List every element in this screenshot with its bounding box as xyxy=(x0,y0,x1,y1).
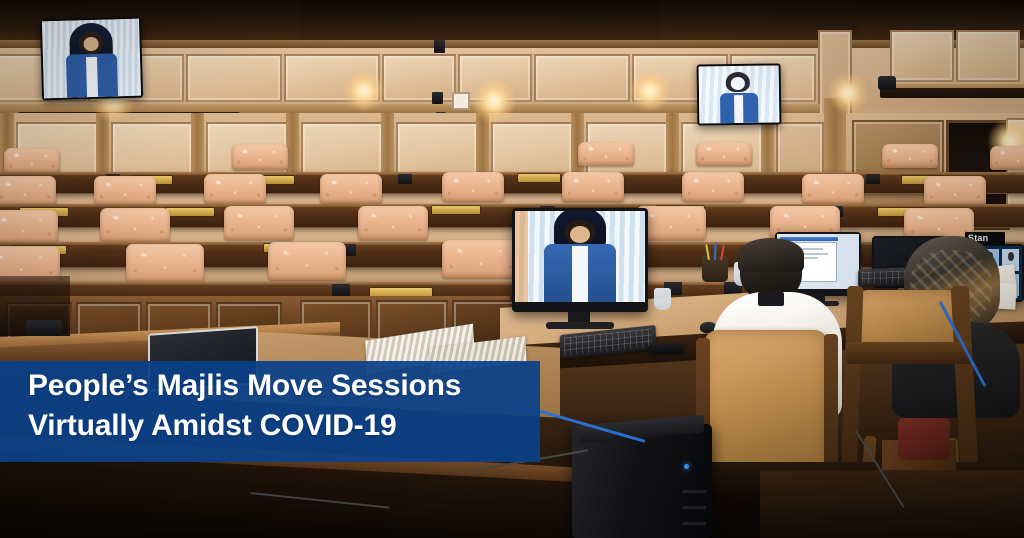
chamber-seat xyxy=(696,142,752,166)
monitor-base xyxy=(546,322,614,329)
tv-right-screen xyxy=(699,65,780,123)
article-hero-image: Stan xyxy=(0,0,1024,538)
desk-mic-base xyxy=(398,174,412,184)
center-monitor-screen xyxy=(515,211,645,302)
chamber-seat xyxy=(682,172,744,202)
wall-mounted-tv-left xyxy=(40,17,143,101)
chamber-seat xyxy=(320,174,382,204)
drive-bay xyxy=(682,506,706,509)
chamber-seat xyxy=(924,176,986,206)
chamber-seat xyxy=(268,242,346,280)
wall-speaker xyxy=(432,92,443,104)
wall-camera-right xyxy=(878,76,896,90)
chamber-seat xyxy=(358,206,428,240)
staff-left-cap xyxy=(738,238,804,272)
wall-panel xyxy=(890,30,954,82)
staff-left-lanyard xyxy=(758,292,784,306)
desk-mic-base xyxy=(866,174,880,184)
chamber-seat xyxy=(0,176,56,206)
wall-plate xyxy=(452,92,470,110)
chamber-seat xyxy=(100,208,170,242)
seat-nameplate xyxy=(518,174,560,182)
chamber-seat xyxy=(882,144,938,168)
chamber-seat xyxy=(232,144,288,170)
power-led-icon xyxy=(684,464,689,469)
chamber-seat xyxy=(0,210,58,244)
wall-panel xyxy=(534,54,630,102)
chair-right-seat xyxy=(846,342,972,364)
wall-panel xyxy=(382,54,456,102)
gallery-glazing-right xyxy=(860,0,1024,34)
headline-text: People’s Majlis Move Sessions Virtually … xyxy=(28,366,540,446)
monitor-bezel xyxy=(512,208,648,312)
chamber-seat xyxy=(224,206,294,240)
wall-mounted-tv-right xyxy=(697,63,782,125)
headline-line-2: Virtually Amidst COVID-19 xyxy=(28,406,540,446)
drinking-glass xyxy=(654,288,671,310)
chamber-seat xyxy=(4,148,60,174)
chamber-seat xyxy=(94,176,156,206)
chamber-seat xyxy=(126,244,204,282)
center-desk-monitor xyxy=(512,208,648,312)
wall-speaker xyxy=(434,40,445,53)
wall-sconce-light xyxy=(828,72,868,114)
gallery-rail xyxy=(0,40,1024,48)
drive-bay xyxy=(682,490,706,493)
tv-right-speaker-shirt xyxy=(734,94,743,123)
tv-left-screen xyxy=(42,19,141,99)
chamber-seat xyxy=(442,172,504,202)
foreground-mic-base xyxy=(26,320,62,336)
chamber-seat xyxy=(578,142,634,166)
chamber-seat xyxy=(442,240,520,278)
chamber-seat xyxy=(204,174,266,204)
ceiling-vent xyxy=(880,88,1024,98)
chair-right-frame xyxy=(841,286,864,482)
chamber-seat xyxy=(990,146,1024,170)
chamber-seat xyxy=(802,174,864,204)
chamber-seat xyxy=(562,172,624,202)
headline-line-1: People’s Majlis Move Sessions xyxy=(28,366,540,406)
wall-sconce-light xyxy=(472,78,516,124)
floor-bag xyxy=(898,418,950,460)
seat-nameplate xyxy=(432,206,480,214)
wall-sconce-light xyxy=(344,70,384,112)
center-phone xyxy=(648,343,684,355)
gallery-glazing xyxy=(300,0,660,42)
tv-left-speaker-shirt xyxy=(86,57,99,97)
wall-panel xyxy=(186,54,282,102)
seat-nameplate xyxy=(166,208,214,216)
chair-left-backrest xyxy=(704,330,828,480)
wall-panel xyxy=(956,30,1020,82)
wall-sconce-light xyxy=(630,70,670,112)
wood-pillar-floor xyxy=(760,470,1024,538)
drive-bay xyxy=(682,522,706,525)
